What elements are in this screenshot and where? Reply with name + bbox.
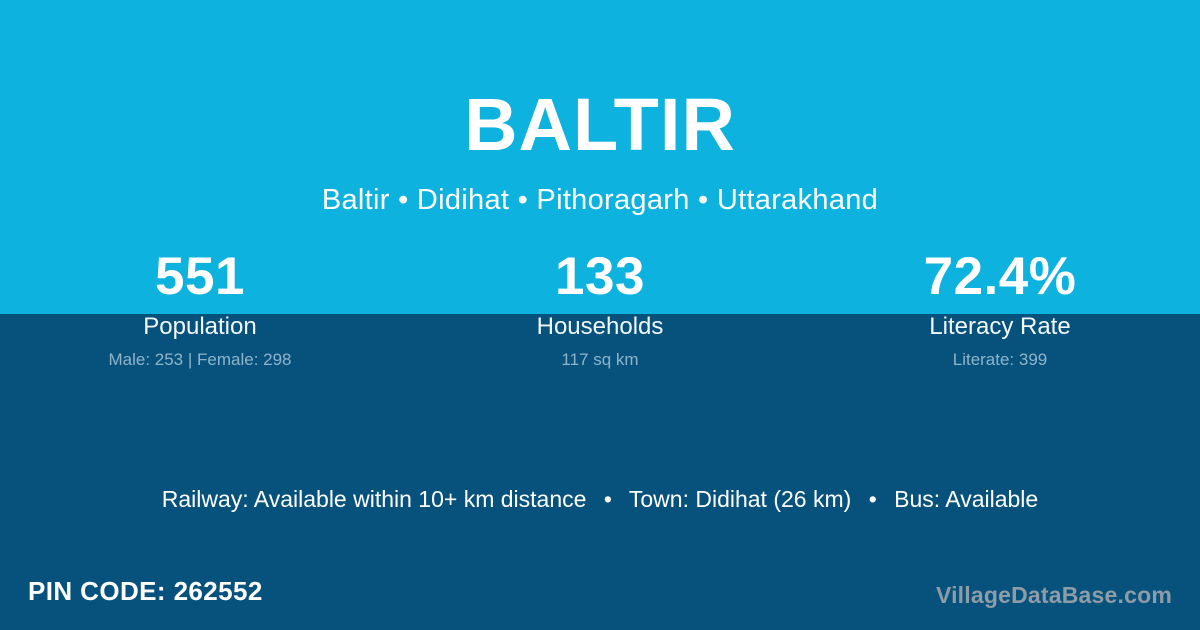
breadcrumb-location: Baltir • Didihat • Pithoragarh • Uttarak… xyxy=(0,182,1200,218)
stat-value: 551 xyxy=(0,248,400,306)
bus-info: Bus: Available xyxy=(894,486,1038,512)
stat-sublabel: 117 sq km xyxy=(400,349,800,371)
railway-info: Railway: Available within 10+ km distanc… xyxy=(162,486,587,512)
pin-code: PIN CODE: 262552 xyxy=(28,574,263,608)
page-title: BALTIR xyxy=(0,82,1200,168)
stat-label: Population xyxy=(0,312,400,342)
stat-population: 551 Population Male: 253 | Female: 298 xyxy=(0,248,400,371)
stat-sublabel: Male: 253 | Female: 298 xyxy=(0,349,400,371)
town-info: Town: Didihat (26 km) xyxy=(629,486,851,512)
stat-value: 133 xyxy=(400,248,800,306)
stat-households: 133 Households 117 sq km xyxy=(400,248,800,371)
stat-label: Households xyxy=(400,312,800,342)
stat-sublabel: Literate: 399 xyxy=(800,349,1200,371)
bullet-separator-icon: • xyxy=(593,483,623,515)
stats-row: 551 Population Male: 253 | Female: 298 1… xyxy=(0,248,1200,371)
village-info-card: BALTIR Baltir • Didihat • Pithoragarh • … xyxy=(0,0,1200,630)
stat-value: 72.4% xyxy=(800,248,1200,306)
stat-literacy-rate: 72.4% Literacy Rate Literate: 399 xyxy=(800,248,1200,371)
transport-info-row: Railway: Available within 10+ km distanc… xyxy=(0,483,1200,515)
stat-label: Literacy Rate xyxy=(800,312,1200,342)
brand-watermark: VillageDataBase.com xyxy=(936,580,1172,610)
bullet-separator-icon: • xyxy=(858,483,888,515)
